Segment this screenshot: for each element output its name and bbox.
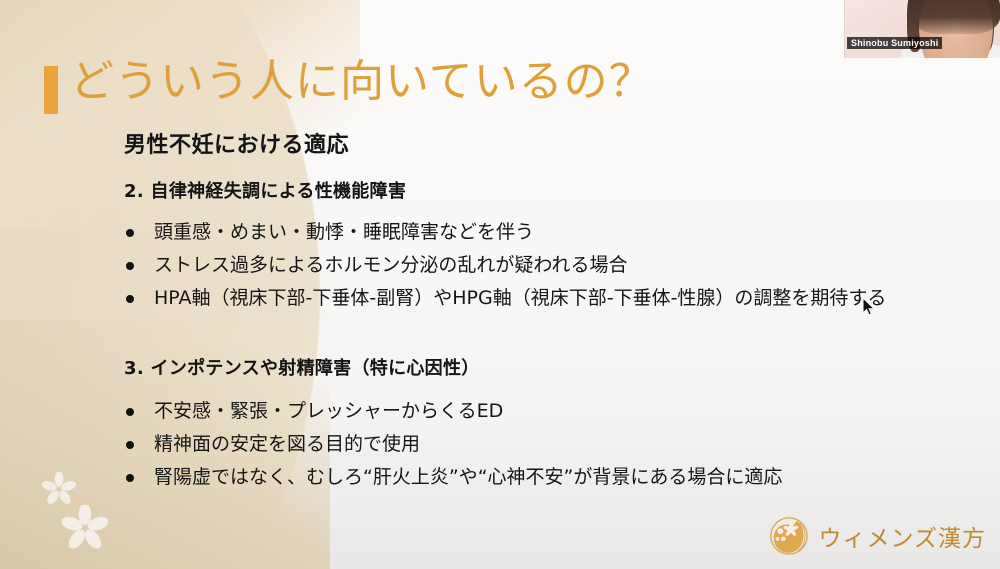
list-item: HPA軸（視床下部-下垂体-副腎）やHPG軸（視床下部-下垂体-性腺）の調整を期… (126, 285, 886, 312)
participant-video-tile[interactable]: Shinobu Sumiyoshi (844, 0, 1000, 58)
list-item: 不安感・緊張・プレッシャーからくるED (126, 398, 782, 425)
list-item-label: 腎陽虚ではなく、むしろ“肝火上炎”や“心神不安”が背景にある場合に適応 (154, 464, 782, 491)
list-item-label: HPA軸（視床下部-下垂体-副腎）やHPG軸（視床下部-下垂体-性腺）の調整を期… (154, 285, 886, 312)
bullet-dot-icon (126, 262, 134, 270)
bullet-list-3: 不安感・緊張・プレッシャーからくるED 精神面の安定を図る目的で使用 腎陽虚では… (126, 398, 782, 497)
slide-subtitle: 男性不妊における適応 (124, 127, 349, 159)
brand-logo: ウィメンズ漢方 (768, 515, 986, 557)
section-heading-2: 2. 自律神経失調による性機能障害 (124, 177, 406, 203)
bullet-dot-icon (126, 408, 134, 416)
list-item: 頭重感・めまい・動悸・睡眠障害などを伴う (126, 219, 886, 246)
bullet-dot-icon (126, 474, 134, 482)
bullet-dot-icon (126, 295, 134, 303)
list-item: ストレス過多によるホルモン分泌の乱れが疑われる場合 (126, 252, 886, 279)
participant-hair-front (912, 0, 1000, 34)
bullet-list-2: 頭重感・めまい・動悸・睡眠障害などを伴う ストレス過多によるホルモン分泌の乱れが… (126, 219, 886, 318)
title-accent-bar (44, 66, 58, 114)
womens-kampo-emblem-icon (768, 515, 810, 557)
list-item-label: 不安感・緊張・プレッシャーからくるED (154, 398, 503, 425)
list-item: 精神面の安定を図る目的で使用 (126, 431, 782, 458)
list-item-label: 頭重感・めまい・動悸・睡眠障害などを伴う (154, 219, 534, 246)
list-item: 腎陽虚ではなく、むしろ“肝火上炎”や“心神不安”が背景にある場合に適応 (126, 464, 782, 491)
mouse-pointer-icon (862, 297, 876, 322)
participant-name-label: Shinobu Sumiyoshi (847, 37, 942, 49)
brand-logo-text: ウィメンズ漢方 (818, 519, 986, 553)
list-item-label: 精神面の安定を図る目的で使用 (154, 431, 420, 458)
bullet-dot-icon (126, 229, 134, 237)
slide-title: どういう人に向いているの？ (44, 59, 654, 114)
section-heading-3: 3. インポテンスや射精障害（特に心因性） (124, 354, 480, 380)
bullet-dot-icon (126, 441, 134, 449)
sakura-flower-icon (62, 505, 108, 556)
list-item-label: ストレス過多によるホルモン分泌の乱れが疑われる場合 (154, 252, 627, 279)
presentation-slide: どういう人に向いているの？ 男性不妊における適応 2. 自律神経失調による性機能… (0, 0, 1000, 569)
slide-title-text: どういう人に向いているの？ (70, 59, 654, 105)
